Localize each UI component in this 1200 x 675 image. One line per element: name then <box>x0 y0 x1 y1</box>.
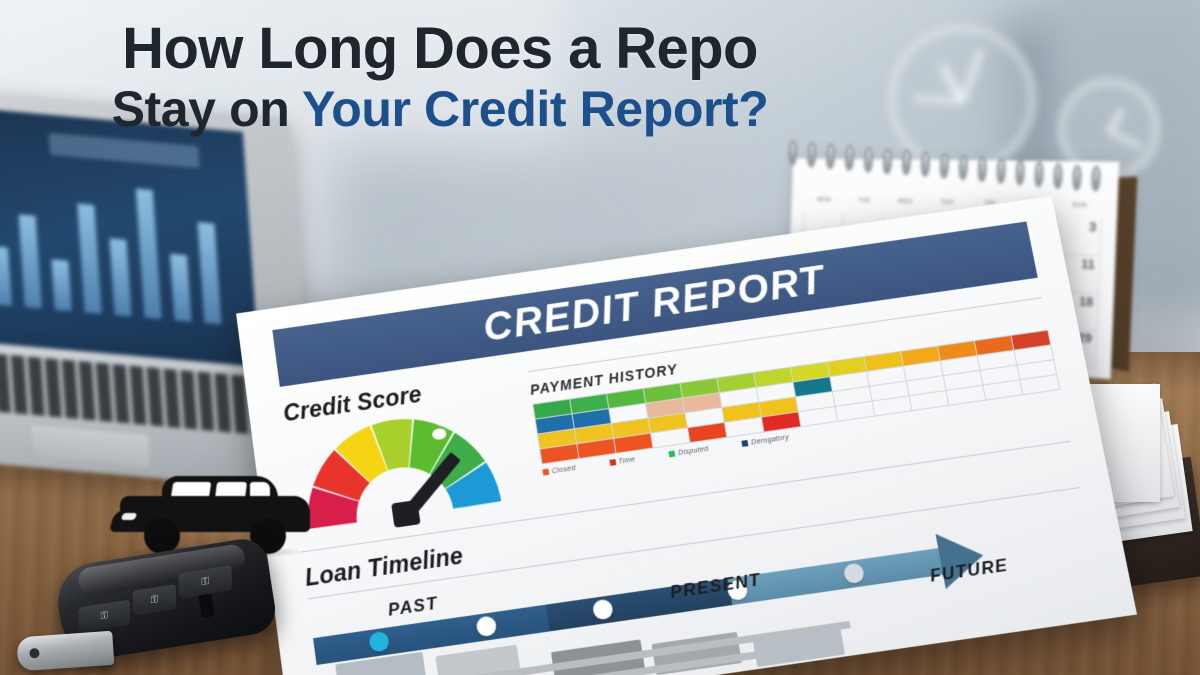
laptop-screen-bar-chart <box>0 104 260 386</box>
legend-label: Time <box>618 456 636 465</box>
legend-label: Disputed <box>678 446 709 457</box>
calendar-coil <box>920 151 930 177</box>
laptop-chart-bar <box>136 189 162 320</box>
trunk-icon: ⚿ <box>201 577 209 588</box>
payment-history-legend-item: Closed <box>542 465 576 477</box>
laptop-chart-bar <box>198 222 222 324</box>
timeline-label-past: PAST <box>387 593 440 621</box>
calendar-coil <box>826 143 836 169</box>
unlock-icon: ⚿ <box>151 595 159 606</box>
laptop-chart-bar <box>51 259 71 311</box>
fob-key-blade <box>16 631 114 672</box>
payment-history-legend-item: Disputed <box>669 446 709 459</box>
credit-score-section: Credit Score <box>282 369 526 540</box>
legend-swatch <box>542 469 549 476</box>
calendar-coil <box>901 149 911 175</box>
headline-line-2: Stay on Your Credit Report? <box>0 78 880 141</box>
laptop-chart-bar <box>0 246 12 306</box>
calendar-coil <box>864 146 874 172</box>
headline: How Long Does a Repo Stay on Your Credit… <box>0 20 880 141</box>
lock-icon: ⚿ <box>101 611 109 622</box>
payment-history-legend-item: Time <box>609 456 636 467</box>
legend-label: Derogatory <box>751 434 790 446</box>
legend-swatch <box>669 451 676 458</box>
calendar-coil <box>845 145 855 171</box>
laptop-chart-bar <box>170 254 192 322</box>
calendar-day-header: TUE <box>844 198 885 214</box>
calendar-day-header: SUN <box>1056 202 1102 219</box>
legend-swatch <box>609 459 616 466</box>
calendar-coil <box>939 153 949 179</box>
calendar-day-header: MON <box>804 197 844 212</box>
payment-history-legend-item: Derogatory <box>742 434 790 448</box>
calendar-day-header: WED <box>884 199 926 215</box>
legend-swatch <box>742 440 749 447</box>
laptop-chart-bar <box>109 238 131 316</box>
headline-line-2-accent: Your Credit Report? <box>302 81 768 137</box>
legend-label: Closed <box>551 465 576 475</box>
gauge-hub <box>391 500 420 528</box>
scene-root: MONTUEWEDTHUFRISATSUN1235678910111213141… <box>0 0 1200 675</box>
credit-score-gauge <box>292 402 507 539</box>
headline-line-2-plain: Stay on <box>112 81 302 137</box>
calendar-coil <box>882 148 892 174</box>
headline-line-1: How Long Does a Repo <box>0 20 880 78</box>
laptop-trackpad <box>29 423 151 468</box>
laptop-chart-bar <box>19 214 42 308</box>
fob-key-ring-hole <box>29 648 40 659</box>
calendar-coil <box>788 140 798 166</box>
calendar-coil <box>807 141 817 167</box>
laptop-chart-bar <box>77 203 101 313</box>
